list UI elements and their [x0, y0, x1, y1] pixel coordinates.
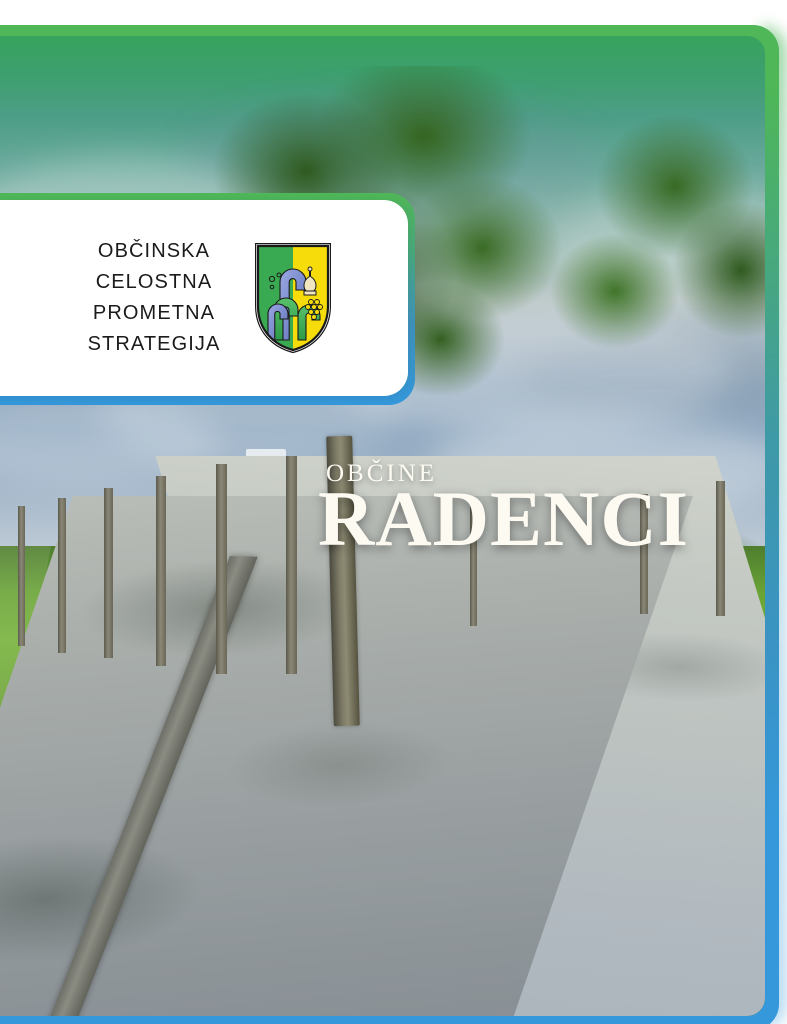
card-title: OBČINSKA CELOSTNA PROMETNA STRATEGIJA: [88, 236, 221, 360]
page-title: RADENCI: [318, 480, 689, 558]
tree-trunk: [716, 481, 725, 616]
tree-trunk: [286, 456, 297, 674]
park-photograph: OBČINE RADENCI: [0, 36, 765, 1016]
tree-trunk: [18, 506, 25, 646]
tree-trunk: [156, 476, 166, 666]
tree-trunk: [58, 498, 66, 653]
hero-title-block: OBČINE RADENCI: [318, 461, 689, 558]
cover-page: OBČINE RADENCI OBČINSKA CELOSTNA PROMETN…: [0, 0, 787, 1024]
coat-of-arms-icon: [254, 242, 332, 354]
tree-trunk: [216, 464, 227, 674]
title-card: OBČINSKA CELOSTNA PROMETNA STRATEGIJA: [0, 200, 408, 396]
cover-photo: OBČINE RADENCI: [0, 36, 765, 1016]
tree-trunk: [104, 488, 113, 658]
tree-canopy: [495, 96, 765, 396]
